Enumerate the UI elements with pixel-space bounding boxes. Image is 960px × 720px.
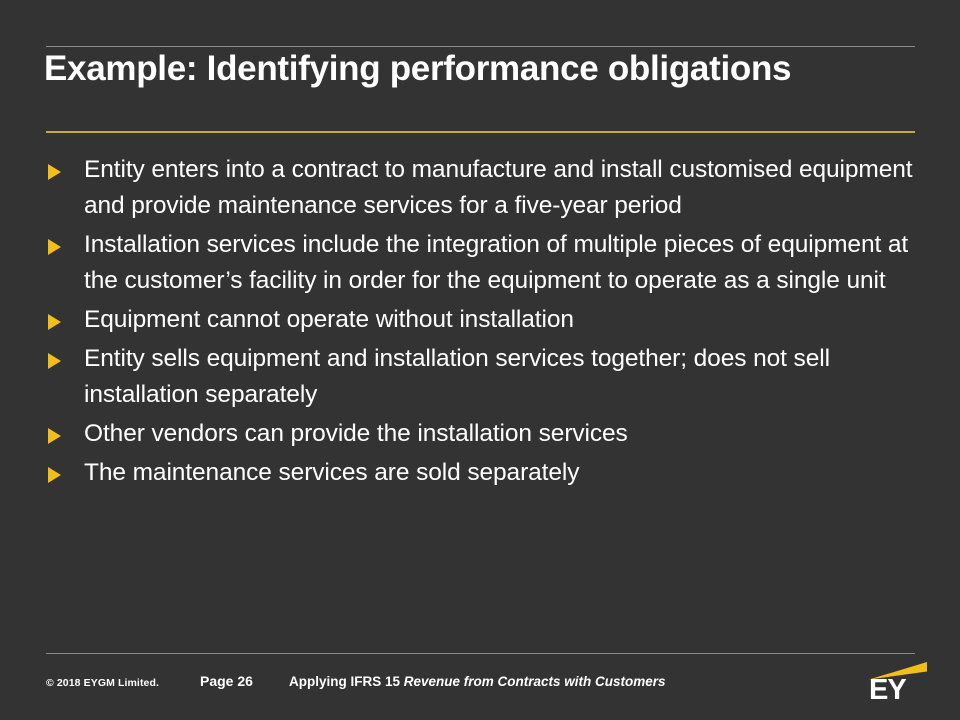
- list-item-text: Installation services include the integr…: [84, 227, 926, 299]
- list-item: Other vendors can provide the installati…: [46, 416, 926, 452]
- title-accent-divider: [46, 131, 915, 133]
- ey-logo: EY: [864, 662, 932, 706]
- list-item: Entity enters into a contract to manufac…: [46, 152, 926, 224]
- document-reference: Applying IFRS 15 Revenue from Contracts …: [289, 674, 666, 689]
- list-item: Entity sells equipment and installation …: [46, 341, 926, 413]
- slide: Example: Identifying performance obligat…: [0, 0, 960, 720]
- list-item-text: Entity sells equipment and installation …: [84, 341, 926, 413]
- list-item-text: Other vendors can provide the installati…: [84, 416, 926, 452]
- list-item-text: The maintenance services are sold separa…: [84, 455, 926, 491]
- list-item: Equipment cannot operate without install…: [46, 302, 926, 338]
- header-divider: [46, 46, 915, 47]
- document-title: Revenue from Contracts with Customers: [404, 674, 666, 689]
- list-item: Installation services include the integr…: [46, 227, 926, 299]
- copyright-text: © 2018 EYGM Limited.: [46, 677, 159, 689]
- bullet-triangle-icon: [48, 467, 61, 483]
- ey-wordmark: EY: [869, 675, 906, 705]
- footer-divider: [46, 653, 915, 654]
- list-item-text: Entity enters into a contract to manufac…: [84, 152, 926, 224]
- footer: © 2018 EYGM Limited. Page 26 Applying IF…: [0, 672, 960, 702]
- bullet-triangle-icon: [48, 314, 61, 330]
- page-number: Page 26: [200, 673, 253, 689]
- page-title: Example: Identifying performance obligat…: [44, 48, 924, 89]
- bullet-triangle-icon: [48, 239, 61, 255]
- list-item: The maintenance services are sold separa…: [46, 455, 926, 491]
- bullet-triangle-icon: [48, 428, 61, 444]
- bullet-triangle-icon: [48, 164, 61, 180]
- bullet-triangle-icon: [48, 353, 61, 369]
- bullet-list: Entity enters into a contract to manufac…: [46, 152, 926, 494]
- document-prefix: Applying IFRS 15: [289, 674, 404, 689]
- list-item-text: Equipment cannot operate without install…: [84, 302, 926, 338]
